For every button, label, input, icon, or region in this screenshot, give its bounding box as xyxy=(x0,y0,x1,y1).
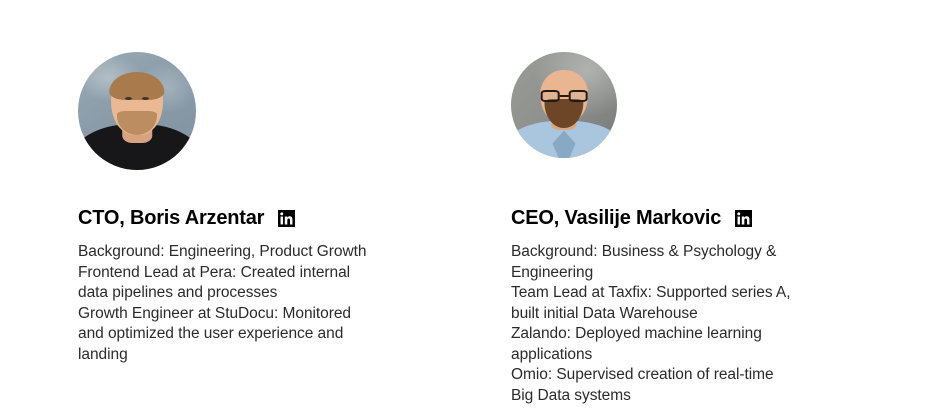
bio-line: Background: Engineering, Product Growth xyxy=(78,242,478,263)
profile-card-boris-arzentar: CTO, Boris Arzentar Background: Engineer… xyxy=(78,52,478,365)
bio-line: Engineering xyxy=(511,263,911,284)
avatar-photo-vasilije-markovic xyxy=(511,52,617,158)
bio-line: Team Lead at Taxfix: Supported series A, xyxy=(511,283,911,304)
avatar xyxy=(78,52,196,170)
profile-name: CEO, Vasilije Markovic xyxy=(511,208,721,228)
linkedin-icon[interactable] xyxy=(278,210,295,227)
profile-heading: CTO, Boris Arzentar xyxy=(78,208,478,228)
team-profiles-section: CTO, Boris Arzentar Background: Engineer… xyxy=(0,0,948,412)
bio-line: data pipelines and processes xyxy=(78,283,478,304)
avatar-photo-boris-arzentar xyxy=(78,52,196,170)
bio-line: and optimized the user experience and xyxy=(78,324,478,345)
bio-line: applications xyxy=(511,345,911,366)
portrait-hair xyxy=(109,72,164,100)
profile-bio: Background: Engineering, Product Growth … xyxy=(78,242,478,365)
bio-line: Zalando: Deployed machine learning xyxy=(511,324,911,345)
bio-line: Growth Engineer at StuDocu: Monitored xyxy=(78,304,478,325)
profile-heading: CEO, Vasilije Markovic xyxy=(511,208,911,228)
portrait-glasses-bridge xyxy=(559,95,568,97)
bio-line: landing xyxy=(78,345,478,366)
portrait-glasses-lens-right xyxy=(569,90,588,102)
bio-line: Background: Business & Psychology & xyxy=(511,242,911,263)
portrait-glasses xyxy=(541,90,588,102)
profile-bio: Background: Business & Psychology & Engi… xyxy=(511,242,911,406)
bio-line: built initial Data Warehouse xyxy=(511,304,911,325)
bio-line: Big Data systems xyxy=(511,386,911,407)
portrait-glasses-lens-left xyxy=(541,90,560,102)
profile-name: CTO, Boris Arzentar xyxy=(78,208,264,228)
profile-card-vasilije-markovic: CEO, Vasilije Markovic Background: Busin… xyxy=(511,52,911,406)
linkedin-icon[interactable] xyxy=(735,210,752,227)
bio-line: Omio: Supervised creation of real-time xyxy=(511,365,911,386)
bio-line: Frontend Lead at Pera: Created internal xyxy=(78,263,478,284)
avatar xyxy=(511,52,617,158)
